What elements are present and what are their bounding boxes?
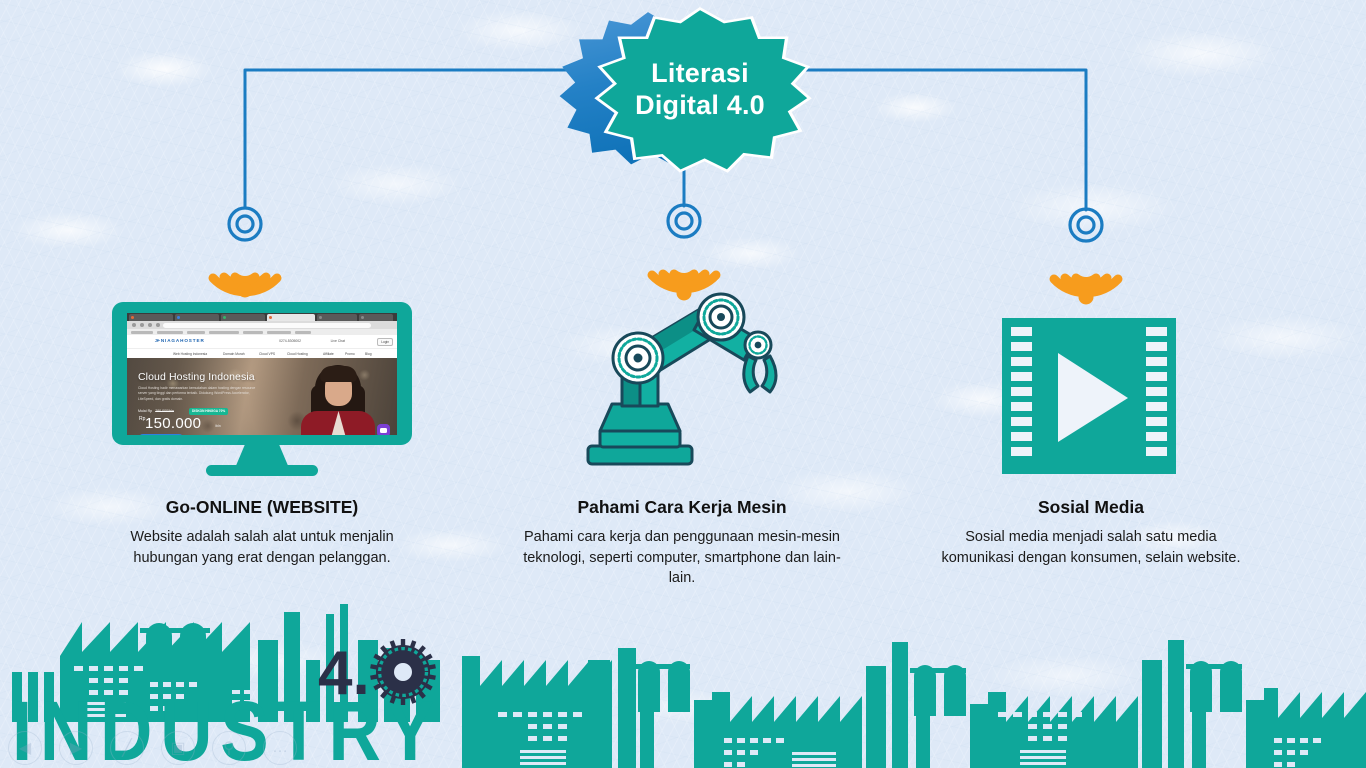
- header-phone: 0274-5305002: [279, 339, 301, 343]
- hero-banner: Cloud Hosting Indonesia Cloud Hosting ha…: [127, 358, 397, 435]
- site-logo[interactable]: ≫NIAGAHOSTER: [155, 338, 205, 344]
- home-icon[interactable]: [156, 323, 160, 327]
- browser-tab[interactable]: [359, 314, 393, 321]
- hero-subtitle: Cloud Hosting hadir menawarkan kemudahan…: [138, 386, 258, 402]
- nav-item[interactable]: Blog: [365, 352, 372, 356]
- robot-arm-icon[interactable]: [588, 294, 776, 464]
- badge-line-2: Digital 4.0: [586, 89, 814, 121]
- nav-item[interactable]: Promo: [345, 352, 355, 356]
- price-period: /bln: [215, 424, 221, 428]
- browser-tab[interactable]: [221, 314, 265, 321]
- column-description: Sosial media menjadi salah satu media ko…: [936, 527, 1246, 568]
- monitor-base: [206, 465, 318, 476]
- nav-item[interactable]: Domain Murah: [223, 352, 245, 356]
- column-title: Pahami Cara Kerja Mesin: [516, 497, 848, 518]
- price-label: Mulai Rp 280.000/bln: [138, 409, 174, 413]
- login-button[interactable]: Login: [377, 338, 393, 346]
- chat-icon[interactable]: [377, 424, 390, 435]
- monitor-screen: ≫NIAGAHOSTER 0274-5305002 Live Chat Logi…: [127, 313, 397, 435]
- browser-tab[interactable]: [317, 314, 357, 321]
- film-play-icon[interactable]: [1002, 318, 1176, 474]
- browser-tab-active[interactable]: [267, 314, 315, 321]
- column-description: Pahami cara kerja dan penggunaan mesin-m…: [516, 527, 848, 589]
- node-group-left: [213, 208, 277, 298]
- nav-item[interactable]: Cloud VPS: [259, 352, 275, 356]
- ring-node-icon: [668, 205, 700, 237]
- reload-icon[interactable]: [148, 323, 152, 327]
- price-value: 150.000: [145, 415, 201, 432]
- browser-tab[interactable]: [129, 314, 173, 321]
- price-strikethrough: 280.000/bln: [155, 409, 174, 413]
- next-icon[interactable]: ▶: [59, 731, 93, 765]
- monitor-website-icon[interactable]: ≫NIAGAHOSTER 0274-5305002 Live Chat Logi…: [112, 302, 412, 474]
- layers-icon[interactable]: ▣: [161, 731, 195, 765]
- back-icon[interactable]: [132, 323, 136, 327]
- browser-tab-strip[interactable]: [127, 313, 397, 321]
- browser-tab[interactable]: [175, 314, 219, 321]
- hero-title: Cloud Hosting Indonesia: [138, 371, 255, 383]
- url-field[interactable]: [163, 323, 371, 328]
- search-icon[interactable]: ⚲: [212, 731, 246, 765]
- cta-button[interactable]: Mulai Sekarang: [138, 434, 184, 435]
- hero-photo-woman: [289, 361, 385, 435]
- center-badge-text: Literasi Digital 4.0: [586, 57, 814, 122]
- site-header: ≫NIAGAHOSTER 0274-5305002 Live Chat Logi…: [127, 335, 397, 348]
- previous-icon[interactable]: ◀: [8, 731, 42, 765]
- column-title: Sosial Media: [936, 497, 1246, 518]
- wifi-dot: [238, 283, 253, 298]
- node-group-center: [652, 205, 716, 301]
- forward-icon[interactable]: [140, 323, 144, 327]
- column-sosial-media: Sosial Media Sosial media menjadi salah …: [936, 497, 1246, 568]
- connector-right: [790, 70, 1086, 210]
- site-nav[interactable]: Web Hosting Indonesia Domain Murah Cloud…: [127, 348, 397, 358]
- wifi-dot: [1079, 290, 1094, 305]
- node-group-right: [1054, 209, 1118, 305]
- browser-address-bar[interactable]: [127, 321, 397, 329]
- watermark-toolbar: ◀ ▶ ╱ ▣ ⚲ …: [8, 731, 297, 765]
- connector-left: [245, 70, 600, 208]
- nav-item[interactable]: Cloud Hosting: [287, 352, 308, 356]
- ring-node-icon: [1070, 209, 1102, 241]
- discount-badge: DISKON HINGGA 70%: [189, 408, 228, 415]
- badge-line-1: Literasi: [586, 57, 814, 89]
- nav-item[interactable]: Affiliate: [323, 352, 334, 356]
- version-number: 4.: [318, 639, 370, 708]
- ring-node-icon: [229, 208, 261, 240]
- column-description: Website adalah salah alat untuk menjalin…: [112, 527, 412, 568]
- wifi-dot: [677, 286, 692, 301]
- pencil-icon[interactable]: ╱: [110, 731, 144, 765]
- column-title: Go-ONLINE (WEBSITE): [112, 497, 412, 518]
- header-livechat[interactable]: Live Chat: [331, 339, 345, 343]
- column-mesin: Pahami Cara Kerja Mesin Pahami cara kerj…: [516, 497, 848, 589]
- column-website: Go-ONLINE (WEBSITE) Website adalah salah…: [112, 497, 412, 568]
- nav-item[interactable]: Web Hosting Indonesia: [173, 352, 207, 356]
- more-icon[interactable]: …: [263, 731, 297, 765]
